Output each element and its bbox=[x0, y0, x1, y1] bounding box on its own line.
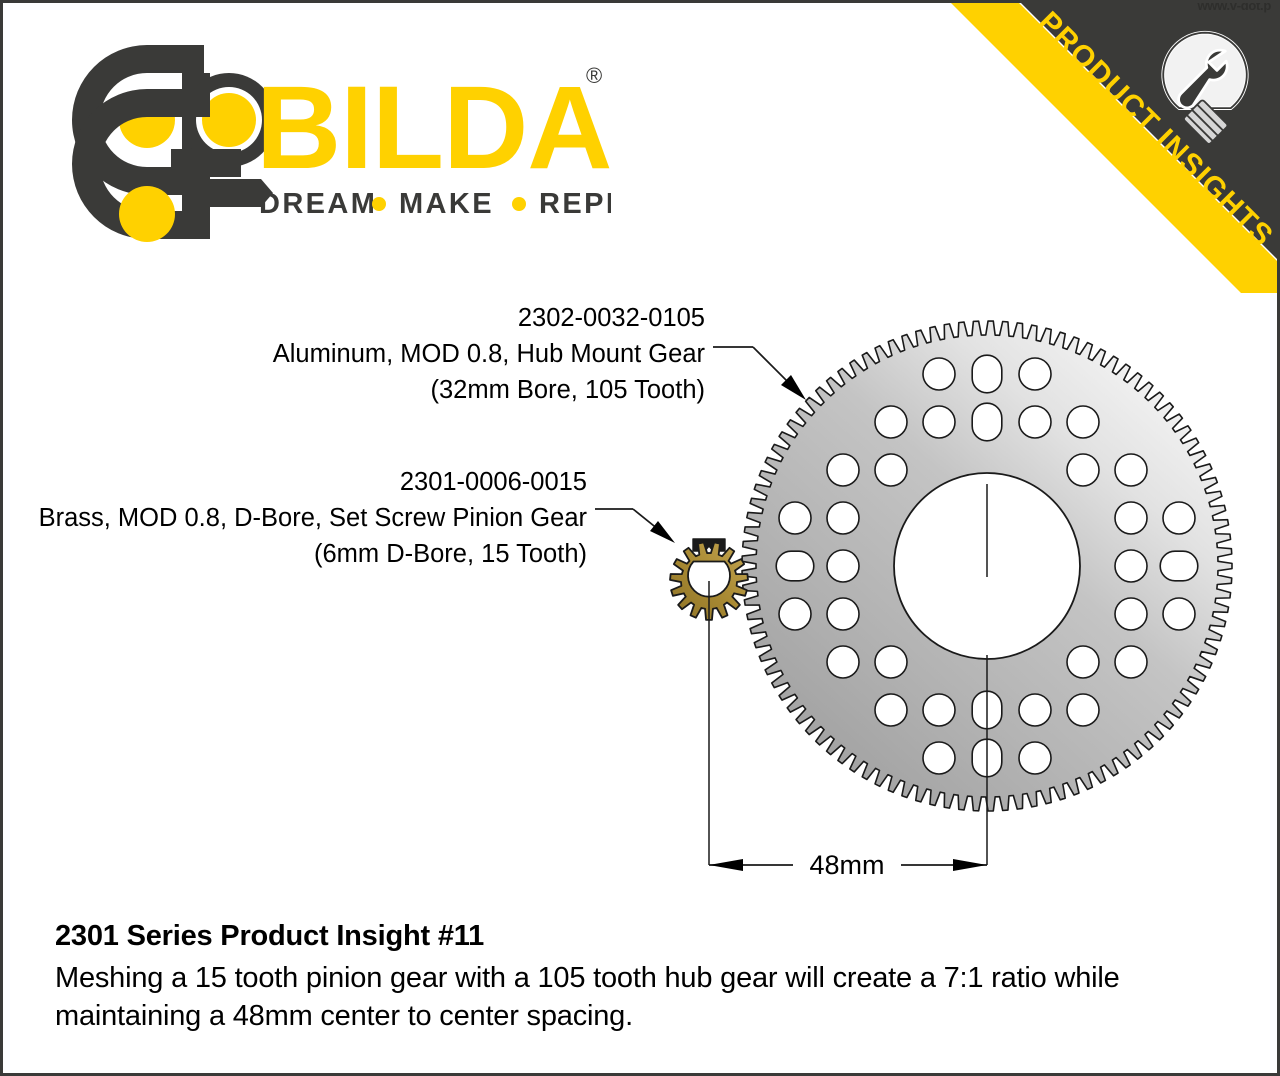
mounting-hole bbox=[875, 694, 907, 726]
mounting-hole bbox=[827, 550, 859, 582]
mounting-hole bbox=[827, 598, 859, 630]
dim-arrow-left bbox=[709, 859, 743, 871]
mounting-hole bbox=[1067, 454, 1099, 486]
mounting-hole bbox=[875, 406, 907, 438]
dim-arrow-right bbox=[953, 859, 987, 871]
mounting-hole bbox=[1019, 694, 1051, 726]
mounting-hole bbox=[1067, 406, 1099, 438]
mounting-hole bbox=[1115, 598, 1147, 630]
mounting-hole bbox=[1160, 551, 1198, 581]
mounting-hole bbox=[875, 646, 907, 678]
mounting-hole bbox=[827, 646, 859, 678]
mounting-hole bbox=[1115, 454, 1147, 486]
leader-pinion-arrowhead bbox=[650, 521, 675, 543]
mounting-hole bbox=[1115, 502, 1147, 534]
mounting-hole bbox=[923, 358, 955, 390]
mounting-hole bbox=[1019, 406, 1051, 438]
mounting-hole bbox=[972, 403, 1002, 441]
mounting-hole bbox=[972, 355, 1002, 393]
site-watermark: www.v-dot.p bbox=[1198, 0, 1272, 13]
mounting-hole bbox=[827, 454, 859, 486]
technical-drawing: 48mm bbox=[3, 3, 1280, 1076]
dimension-48mm: 48mm bbox=[709, 850, 987, 880]
product-insight-page: www.v-dot.p bbox=[0, 0, 1280, 1076]
dimension-label: 48mm bbox=[809, 850, 884, 880]
mounting-hole bbox=[1019, 358, 1051, 390]
mounting-hole bbox=[1115, 550, 1147, 582]
mounting-hole bbox=[1115, 646, 1147, 678]
mounting-hole bbox=[1163, 502, 1195, 534]
mounting-hole bbox=[1067, 694, 1099, 726]
mounting-hole bbox=[923, 694, 955, 726]
mounting-hole bbox=[1019, 742, 1051, 774]
mounting-hole bbox=[923, 742, 955, 774]
mounting-hole bbox=[779, 502, 811, 534]
mounting-hole bbox=[875, 454, 907, 486]
mounting-hole bbox=[1067, 646, 1099, 678]
mounting-hole bbox=[923, 406, 955, 438]
mounting-hole bbox=[779, 598, 811, 630]
mounting-hole bbox=[827, 502, 859, 534]
mounting-hole bbox=[776, 551, 814, 581]
mounting-hole bbox=[1163, 598, 1195, 630]
